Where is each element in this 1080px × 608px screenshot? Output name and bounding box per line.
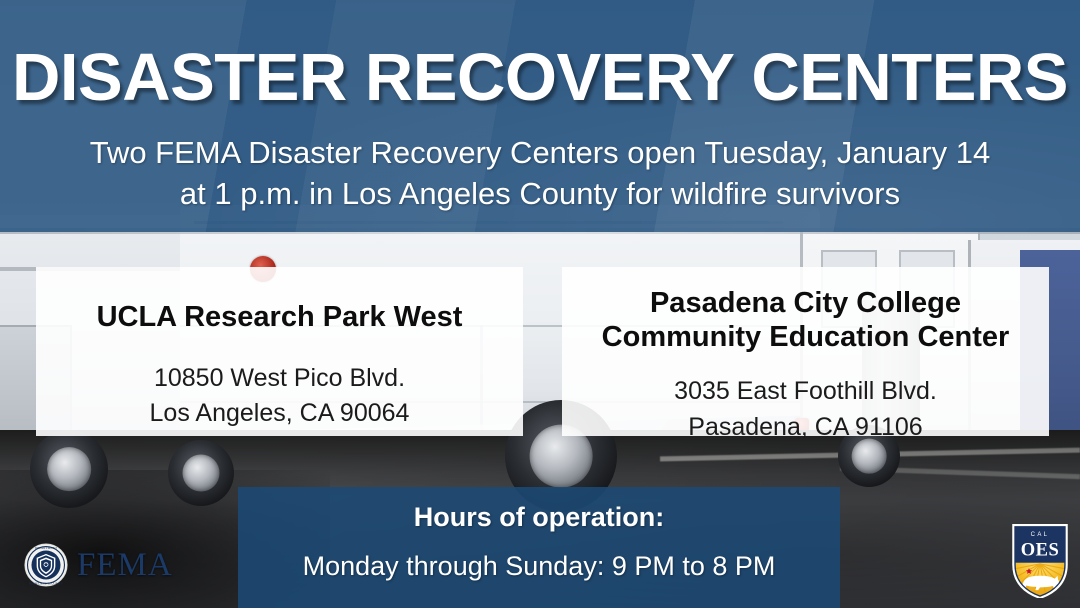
- page-title: DISASTER RECOVERY CENTERS: [0, 44, 1080, 111]
- fema-logo: DEPARTMENT HOMELAND SECURITY FEMA: [24, 543, 173, 587]
- location-address-line-1: 10850 West Pico Blvd.: [46, 361, 513, 397]
- cal-oes-top-text: CAL: [1031, 532, 1050, 538]
- page-subtitle-line-1: Two FEMA Disaster Recovery Centers open …: [0, 132, 1080, 173]
- cal-oes-logo-icon: CAL OES: [1012, 524, 1068, 598]
- location-address: 3035 East Foothill Blvd. Pasadena, CA 91…: [572, 354, 1039, 445]
- svg-text:DEPARTMENT: DEPARTMENT: [35, 546, 57, 550]
- page-subtitle-line-2: at 1 p.m. in Los Angeles County for wild…: [0, 173, 1080, 214]
- location-name: Pasadena City College Community Educatio…: [572, 283, 1039, 354]
- hours-value: Monday through Sunday: 9 PM to 8 PM: [238, 535, 840, 584]
- location-address-line-1: 3035 East Foothill Blvd.: [572, 374, 1039, 410]
- fema-wordmark: FEMA: [77, 547, 173, 584]
- photo-rv-wheel: [30, 430, 108, 508]
- hours-banner: Hours of operation: Monday through Sunda…: [238, 487, 840, 608]
- photo-rv-wheel: [168, 440, 234, 506]
- hours-title: Hours of operation:: [238, 500, 840, 535]
- page-subtitle: Two FEMA Disaster Recovery Centers open …: [0, 132, 1080, 214]
- dhs-seal-icon: DEPARTMENT HOMELAND SECURITY: [24, 543, 68, 587]
- location-address: 10850 West Pico Blvd. Los Angeles, CA 90…: [46, 335, 513, 432]
- location-name-line-1: Pasadena City College: [572, 287, 1039, 321]
- location-card-ucla: UCLA Research Park West 10850 West Pico …: [36, 267, 523, 436]
- location-name-line-1: UCLA Research Park West: [46, 301, 513, 335]
- svg-text:HOMELAND SECURITY: HOMELAND SECURITY: [29, 581, 63, 585]
- disaster-recovery-centers-poster: DISASTER RECOVERY CENTERS Two FEMA Disas…: [0, 0, 1080, 608]
- location-name-line-2: Community Education Center: [572, 321, 1039, 355]
- cal-oes-main-text: OES: [1021, 540, 1059, 560]
- location-card-pasadena: Pasadena City College Community Educatio…: [562, 267, 1049, 436]
- location-name: UCLA Research Park West: [46, 283, 513, 335]
- location-address-line-2: Los Angeles, CA 90064: [46, 396, 513, 432]
- location-address-line-2: Pasadena, CA 91106: [572, 410, 1039, 446]
